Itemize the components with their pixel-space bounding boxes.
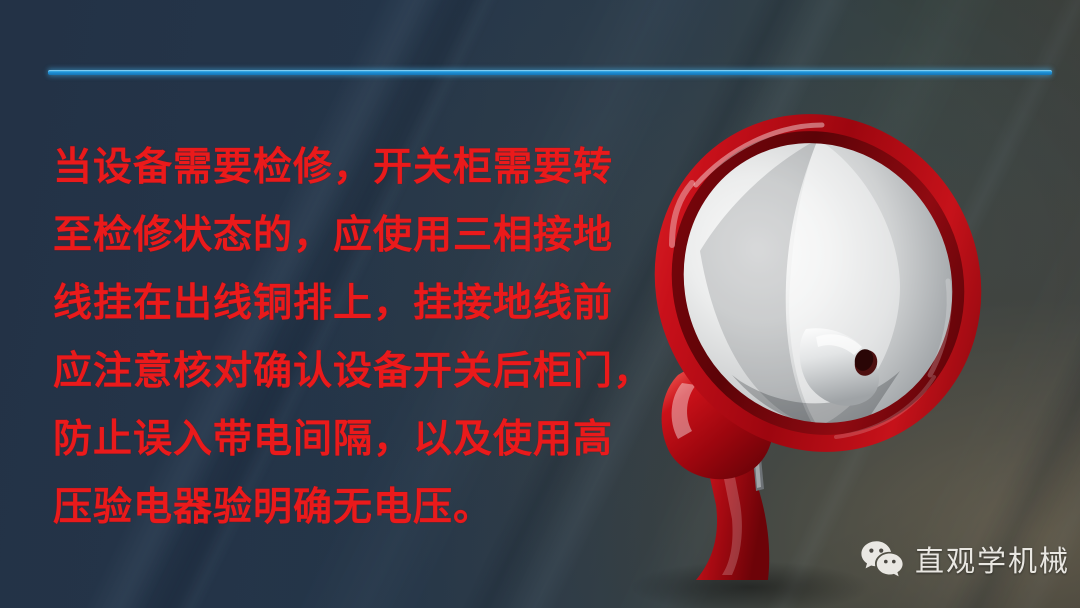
body-line: 压验电器验明确无电压。 [53,474,613,542]
body-copy: 当设备需要检修，开关柜需要转 至检修状态的，应使用三相接地 线挂在出线铜排上，挂… [53,134,613,542]
slide-canvas: 当设备需要检修，开关柜需要转 至检修状态的，应使用三相接地 线挂在出线铜排上，挂… [0,0,1080,608]
wechat-icon [860,540,904,578]
body-line: 线挂在出线铜排上，挂接地线前 [53,270,613,338]
watermark: 直观学机械 [860,538,1070,580]
megaphone-icon [600,75,1020,608]
body-line: 当设备需要检修，开关柜需要转 [53,134,613,202]
body-line: 至检修状态的，应使用三相接地 [53,202,613,270]
body-line: 防止误入带电间隔，以及使用高 [53,406,613,474]
watermark-label: 直观学机械 [915,538,1070,580]
body-line: 应注意核对确认设备开关后柜门， [53,338,613,406]
